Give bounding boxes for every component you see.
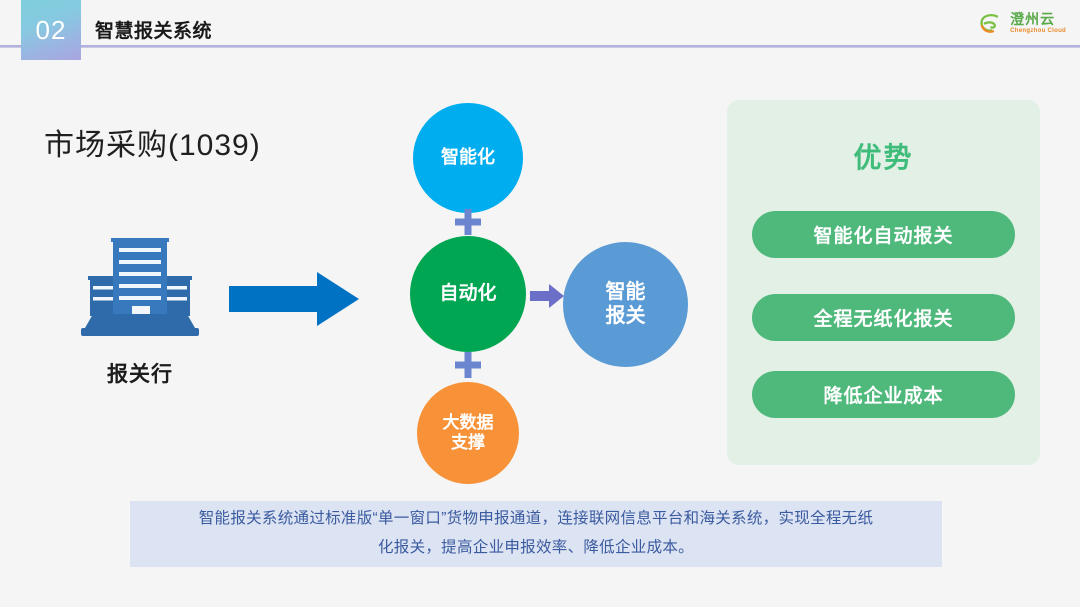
slide-header: 02 智慧报关系统 澄州云 Chengzhou Cloud	[0, 0, 1080, 78]
capability-circle-bigdata-line2: 支撑	[451, 433, 485, 452]
capability-circle-bigdata-label: 大数据 支撑	[443, 413, 494, 453]
advantage-item-1[interactable]: 智能化自动报关	[752, 211, 1015, 258]
capability-circle-bigdata-line1: 大数据	[443, 413, 494, 432]
page-title: 智慧报关系统	[95, 16, 212, 43]
advantages-title: 优势	[727, 136, 1040, 176]
office-building-icon	[75, 228, 205, 348]
advantage-item-3[interactable]: 降低企业成本	[752, 371, 1015, 418]
header-divider-secondary	[0, 47, 1080, 48]
advantages-panel: 优势 智能化自动报关 全程无纸化报关 降低企业成本	[727, 100, 1040, 465]
capability-circle-bigdata: 大数据 支撑	[417, 382, 519, 484]
capability-circle-automation-label: 自动化	[439, 283, 496, 305]
slide-heading: 市场采购(1039)	[44, 120, 261, 164]
result-circle-smart-declaration: 智能 报关	[563, 242, 688, 367]
result-circle-line1: 智能	[606, 281, 646, 303]
result-circle-label: 智能 报关	[606, 281, 646, 328]
capability-circle-intelligent-label: 智能化	[441, 147, 495, 168]
capability-circle-automation: 自动化	[410, 236, 526, 352]
section-number-badge: 02	[21, 0, 81, 60]
slide-caption: 智能报关系统通过标准版“单一窗口”货物申报通道，连接联网信息平台和海关系统，实现…	[130, 501, 942, 567]
brand-logo: 澄州云 Chengzhou Cloud	[976, 8, 1066, 38]
plus-icon	[455, 352, 481, 378]
slide-caption-line-2: 化报关，提高企业申报效率、降低企业成本。	[378, 534, 694, 563]
source-entity-label: 报关行	[70, 358, 210, 388]
section-number-text: 02	[36, 17, 67, 43]
source-entity-group: 报关行	[70, 228, 210, 388]
chengzhou-cloud-logo-icon	[976, 9, 1004, 37]
slide-caption-line-1: 智能报关系统通过标准版“单一窗口”货物申报通道，连接联网信息平台和海关系统，实现…	[199, 505, 874, 534]
flow-right-arrow-icon	[229, 270, 359, 328]
advantage-item-2[interactable]: 全程无纸化报关	[752, 294, 1015, 341]
result-circle-line2: 报关	[606, 305, 646, 327]
plus-icon	[455, 209, 481, 235]
capability-circle-intelligent: 智能化	[413, 103, 523, 213]
logo-name-cn: 澄州云	[1010, 12, 1066, 26]
small-right-arrow-icon	[530, 283, 564, 309]
logo-name-en: Chengzhou Cloud	[1010, 28, 1066, 34]
logo-wordmark: 澄州云 Chengzhou Cloud	[1010, 12, 1066, 34]
